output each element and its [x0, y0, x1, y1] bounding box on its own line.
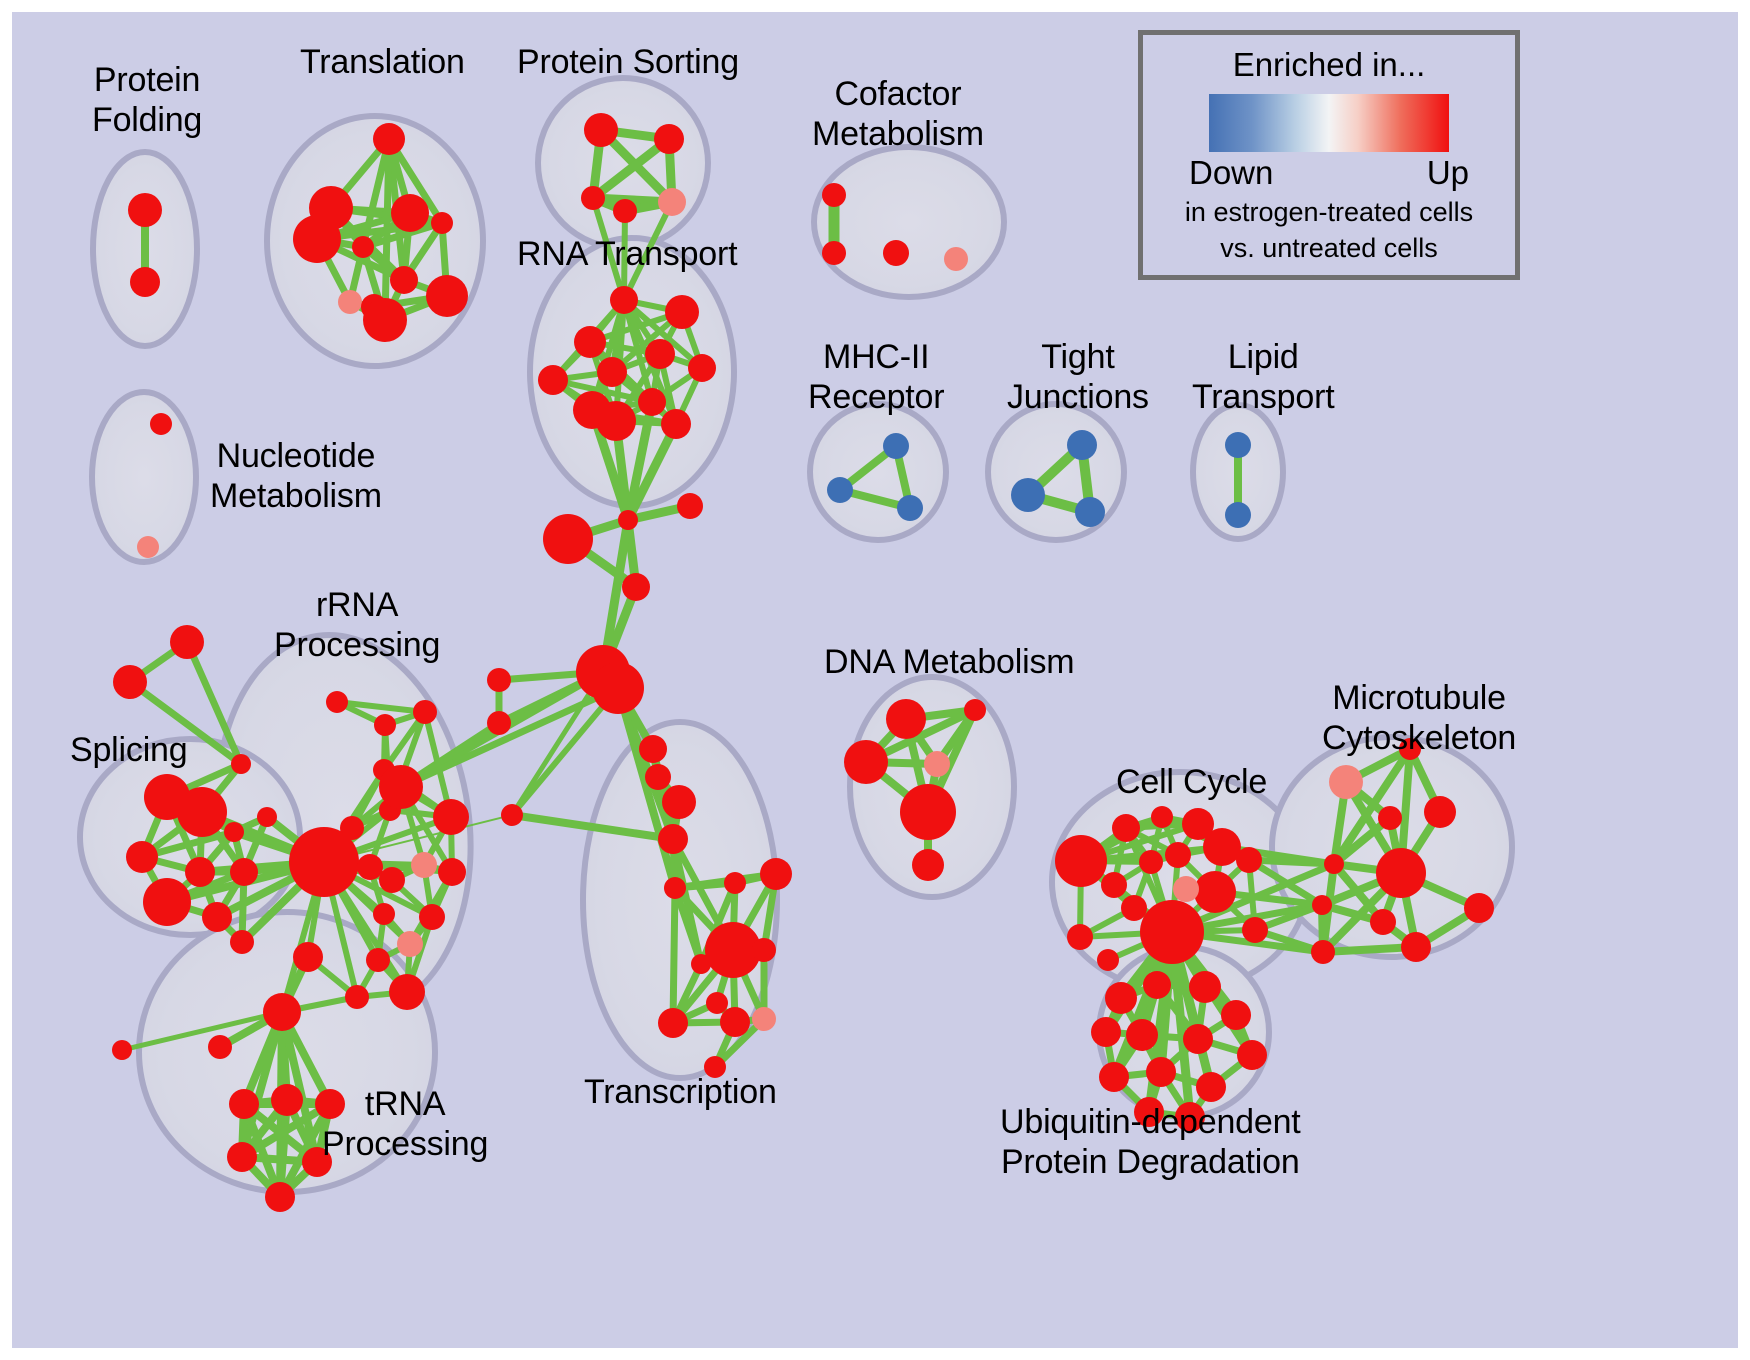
node: [143, 878, 191, 926]
node: [379, 867, 405, 893]
legend-endpoints: Down Up: [1189, 154, 1469, 192]
node: [128, 193, 162, 227]
node: [1196, 1072, 1226, 1102]
node: [202, 902, 232, 932]
node: [1011, 478, 1045, 512]
figure-stage: Protein Folding Translation Protein Sort…: [0, 0, 1750, 1360]
node: [1165, 842, 1191, 868]
node: [229, 1089, 259, 1119]
node: [366, 948, 390, 972]
node: [487, 668, 511, 692]
legend-color-gradient-bar: [1209, 94, 1449, 152]
network-canvas: Protein Folding Translation Protein Sort…: [12, 12, 1738, 1348]
node: [126, 841, 158, 873]
hull-mhc-ii-receptor: [810, 404, 946, 540]
node: [411, 852, 437, 878]
node: [1329, 765, 1363, 799]
node: [752, 1007, 776, 1031]
node: [574, 326, 606, 358]
cluster-label-protein-folding: Protein Folding: [92, 60, 202, 140]
node: [185, 857, 215, 887]
node: [1311, 940, 1335, 964]
node: [431, 212, 453, 234]
node: [883, 240, 909, 266]
node: [1091, 1017, 1121, 1047]
node: [391, 194, 429, 232]
node: [964, 699, 986, 721]
cluster-label-tight-junctions: Tight Junctions: [1007, 337, 1149, 417]
node: [592, 662, 644, 714]
node: [1075, 497, 1105, 527]
node: [130, 267, 160, 297]
node: [326, 691, 348, 713]
node: [1312, 895, 1332, 915]
node: [208, 1035, 232, 1059]
node: [373, 123, 405, 155]
node: [224, 822, 244, 842]
legend-high-label: Up: [1427, 154, 1469, 192]
node: [373, 903, 395, 925]
cluster-label-trna-processing: tRNA Processing: [322, 1084, 488, 1164]
node: [426, 275, 468, 317]
node: [487, 711, 511, 735]
node: [1221, 1000, 1251, 1030]
cluster-label-nucleotide-metabolism: Nucleotide Metabolism: [210, 436, 382, 516]
node: [265, 1182, 295, 1212]
node: [113, 665, 147, 699]
node: [352, 236, 374, 258]
cluster-label-mhc-ii-receptor: MHC-II Receptor: [808, 337, 944, 417]
node: [413, 700, 437, 724]
node: [538, 365, 568, 395]
node: [886, 699, 926, 739]
node: [1067, 430, 1097, 460]
node: [263, 993, 301, 1031]
node: [1237, 1040, 1267, 1070]
node: [1067, 924, 1093, 950]
legend-caption-line2: vs. untreated cells: [1143, 232, 1515, 264]
node: [1126, 1019, 1158, 1051]
node: [664, 877, 686, 899]
node: [1378, 806, 1402, 830]
node: [150, 413, 172, 435]
node: [1173, 876, 1199, 902]
node: [363, 298, 407, 342]
node: [231, 754, 251, 774]
node: [1324, 854, 1344, 874]
node: [900, 784, 956, 840]
node: [596, 401, 636, 441]
legend-box: Enriched in... Down Up in estrogen-treat…: [1138, 30, 1520, 280]
node: [389, 974, 425, 1010]
cluster-label-rrna-processing: rRNA Processing: [274, 585, 440, 665]
node: [654, 124, 684, 154]
node: [645, 764, 671, 790]
node: [827, 477, 853, 503]
node: [1189, 971, 1221, 1003]
node: [379, 765, 423, 809]
node: [257, 807, 277, 827]
node: [661, 409, 691, 439]
node: [1203, 828, 1241, 866]
node: [543, 514, 593, 564]
node: [170, 625, 204, 659]
node: [1143, 971, 1171, 999]
node: [1099, 1062, 1129, 1092]
cluster-label-microtubule-cytoskeleton: Microtubule Cytoskeleton: [1322, 678, 1516, 758]
cluster-label-lipid-transport: Lipid Transport: [1192, 337, 1334, 417]
node: [1401, 932, 1431, 962]
cluster-label-rna-transport: RNA Transport: [517, 234, 737, 274]
hull-nucleotide-metabolism: [92, 392, 196, 562]
node: [883, 433, 909, 459]
node: [419, 904, 445, 930]
node: [230, 858, 258, 886]
legend-caption-line1: in estrogen-treated cells: [1143, 196, 1515, 228]
node: [658, 188, 686, 216]
node: [1112, 814, 1140, 842]
node: [271, 1084, 303, 1116]
node: [658, 1008, 688, 1038]
node: [662, 785, 696, 819]
node: [397, 931, 423, 957]
node: [1139, 850, 1163, 874]
node: [1055, 835, 1107, 887]
node: [433, 799, 469, 835]
node: [597, 357, 627, 387]
node: [1225, 432, 1251, 458]
node: [581, 186, 605, 210]
node: [618, 510, 638, 530]
node: [1146, 1057, 1176, 1087]
node: [924, 751, 950, 777]
node: [584, 113, 618, 147]
node: [688, 354, 716, 382]
node: [1225, 502, 1251, 528]
node: [293, 942, 323, 972]
node: [658, 824, 688, 854]
node: [639, 735, 667, 763]
node: [897, 495, 923, 521]
node: [345, 985, 369, 1009]
node: [822, 183, 846, 207]
node: [706, 992, 728, 1014]
node: [610, 286, 638, 314]
hull-cofactor-metabolism: [814, 147, 1004, 297]
cluster-label-cell-cycle: Cell Cycle: [1116, 762, 1267, 802]
node: [227, 1142, 257, 1172]
node: [177, 787, 227, 837]
cluster-label-ubiquitin-degradation: Ubiquitin-dependent Protein Degradation: [1000, 1102, 1301, 1182]
node: [1242, 917, 1268, 943]
cluster-label-protein-sorting: Protein Sorting: [517, 42, 739, 82]
node: [501, 804, 523, 826]
node: [1183, 1024, 1213, 1054]
legend-title: Enriched in...: [1143, 46, 1515, 84]
node: [944, 247, 968, 271]
node: [1376, 848, 1426, 898]
node: [844, 740, 888, 784]
node: [645, 339, 675, 369]
legend-low-label: Down: [1189, 154, 1273, 192]
node: [1105, 982, 1137, 1014]
node: [1424, 796, 1456, 828]
node: [912, 849, 944, 881]
node: [338, 290, 362, 314]
node: [724, 872, 746, 894]
cluster-label-cofactor-metabolism: Cofactor Metabolism: [812, 74, 984, 154]
node: [760, 858, 792, 890]
node: [438, 858, 466, 886]
node: [137, 536, 159, 558]
node: [1464, 893, 1494, 923]
node: [1194, 871, 1236, 913]
node: [1101, 872, 1127, 898]
node: [289, 827, 359, 897]
node: [752, 938, 776, 962]
node: [1370, 909, 1396, 935]
node: [1121, 895, 1147, 921]
node: [1097, 949, 1119, 971]
node: [822, 241, 846, 265]
node: [1151, 806, 1173, 828]
node: [293, 215, 341, 263]
node: [374, 714, 396, 736]
node: [720, 1007, 750, 1037]
node: [638, 388, 666, 416]
node: [1236, 847, 1262, 873]
node: [112, 1040, 132, 1060]
node: [665, 295, 699, 329]
node: [230, 930, 254, 954]
cluster-label-dna-metabolism: DNA Metabolism: [824, 642, 1074, 682]
node: [622, 573, 650, 601]
node: [613, 199, 637, 223]
cluster-label-transcription: Transcription: [584, 1072, 777, 1112]
node: [677, 493, 703, 519]
node: [1140, 900, 1204, 964]
node: [390, 266, 418, 294]
node: [357, 854, 383, 880]
cluster-label-splicing: Splicing: [70, 730, 187, 770]
cluster-label-translation: Translation: [300, 42, 465, 82]
